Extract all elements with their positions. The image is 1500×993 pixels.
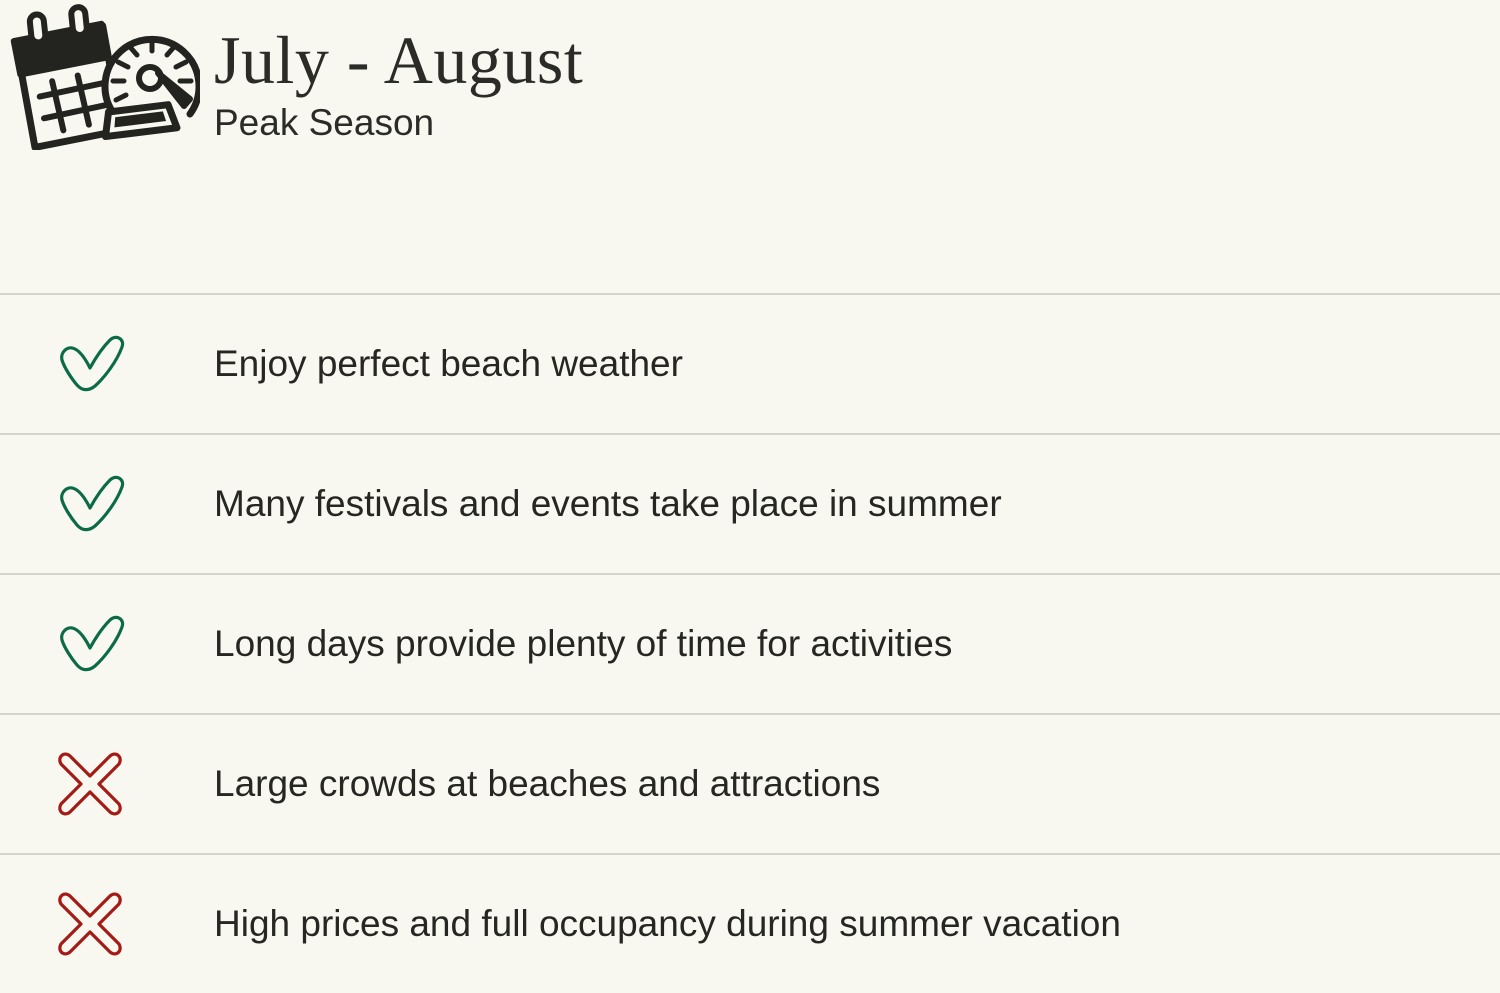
list-item: High prices and full occupancy during su…: [0, 853, 1500, 993]
list-item-label: High prices and full occupancy during su…: [214, 902, 1121, 946]
header-text-block: July - August Peak Season: [214, 22, 1414, 144]
list-item-label: Enjoy perfect beach weather: [214, 342, 683, 386]
page-title: July - August: [214, 22, 1414, 98]
check-icon: [48, 462, 132, 546]
list-item: Many festivals and events take place in …: [0, 433, 1500, 573]
cross-icon: [48, 742, 132, 826]
cross-icon: [48, 882, 132, 966]
check-icon: [48, 322, 132, 406]
list-item: Large crowds at beaches and attractions: [0, 713, 1500, 853]
page-subtitle: Peak Season: [214, 102, 1414, 144]
peak-season-card: July - August Peak Season Enjoy perfect …: [0, 0, 1500, 854]
check-icon: [48, 602, 132, 686]
list-item-label: Long days provide plenty of time for act…: [214, 622, 952, 666]
list-item: Long days provide plenty of time for act…: [0, 573, 1500, 713]
list-item-label: Large crowds at beaches and attractions: [214, 762, 880, 806]
list-item: Enjoy perfect beach weather: [0, 293, 1500, 433]
list-item-label: Many festivals and events take place in …: [214, 482, 1002, 526]
calendar-speedometer-icon: [4, 4, 200, 150]
card-header: July - August Peak Season: [0, 0, 1500, 293]
pros-cons-list: Enjoy perfect beach weatherMany festival…: [0, 293, 1500, 993]
